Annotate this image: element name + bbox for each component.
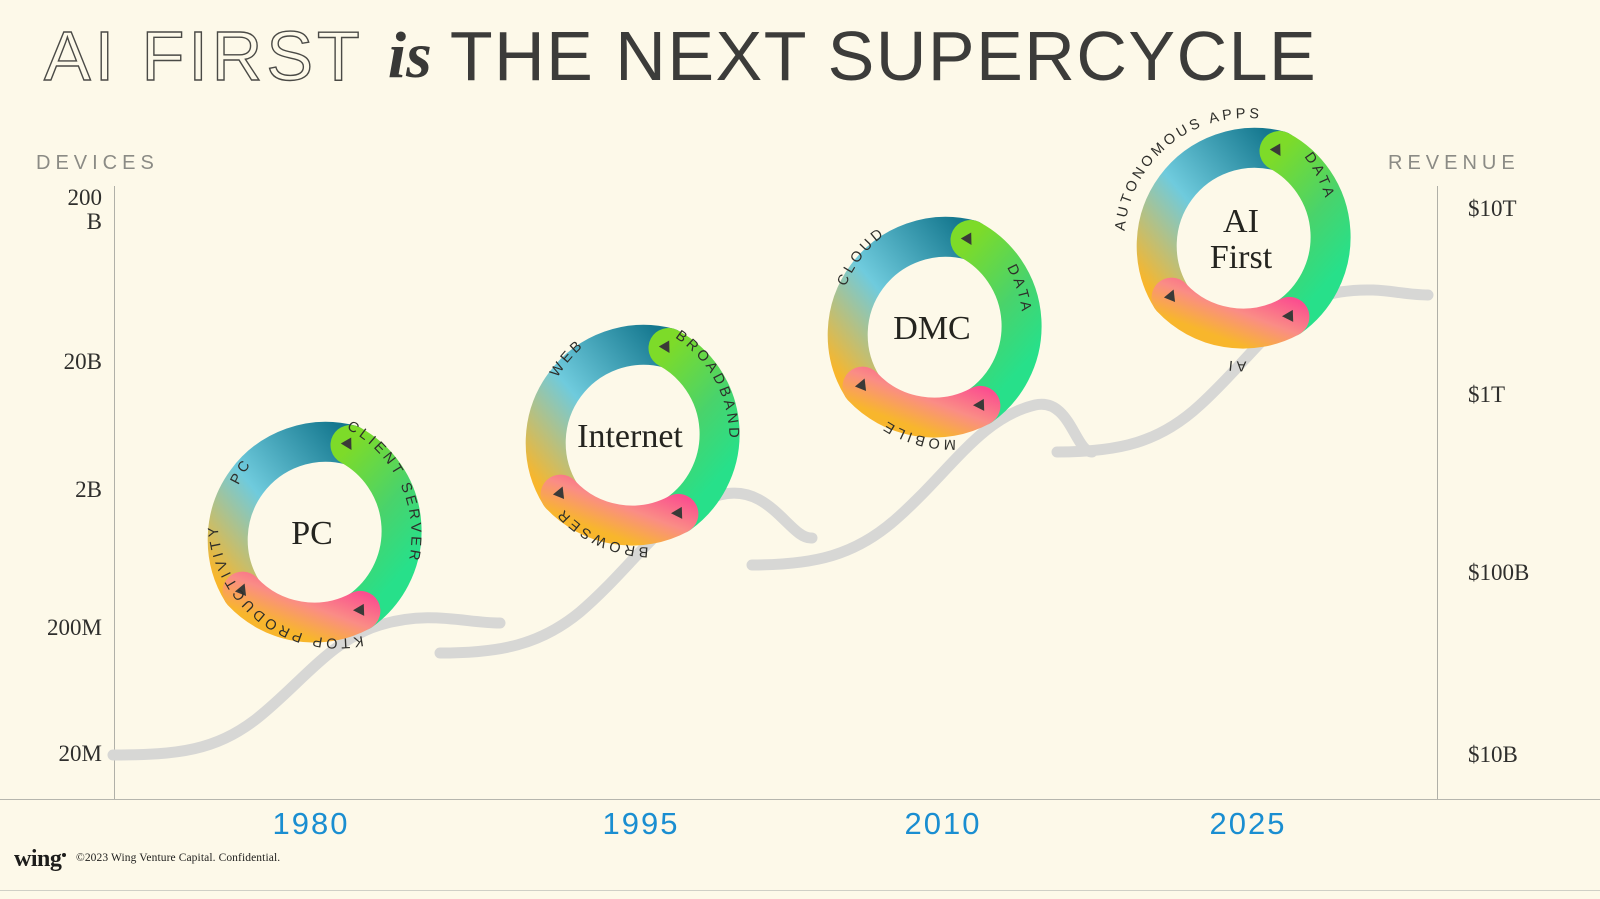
cycle-donut-ai-first[interactable]: AUTONOMOUS APPS DATA AI AI First	[1123, 122, 1359, 358]
donut-ring-pc	[194, 416, 430, 652]
year-label-1995[interactable]: 1995	[541, 806, 741, 842]
cycle-donut-internet[interactable]: WEB BROADBAND BROWSER Internet	[512, 319, 748, 555]
wing-logo[interactable]: wing	[14, 846, 66, 873]
year-label-2025[interactable]: 2025	[1148, 806, 1348, 842]
donut-ring-dmc	[814, 211, 1050, 447]
wing-logo-text: wing	[14, 846, 61, 872]
cycle-donut-dmc[interactable]: CLOUD DATA MOBILE DMC	[814, 211, 1050, 447]
year-label-2010[interactable]: 2010	[843, 806, 1043, 842]
cycle-donut-pc[interactable]: PC CLIENT SERVER DESKTOP PRODUCTIVITY PC	[194, 416, 430, 652]
copyright-text: ©2023 Wing Venture Capital. Confidential…	[76, 852, 280, 864]
year-label-1980[interactable]: 1980	[211, 806, 411, 842]
donut-ring-ai-first	[1123, 122, 1359, 358]
wing-logo-dot-icon	[62, 853, 66, 857]
infographic-canvas: AI FIRST is THE NEXT SUPERCYCLE DEVICES …	[0, 0, 1600, 899]
donut-ring-internet	[512, 319, 748, 555]
